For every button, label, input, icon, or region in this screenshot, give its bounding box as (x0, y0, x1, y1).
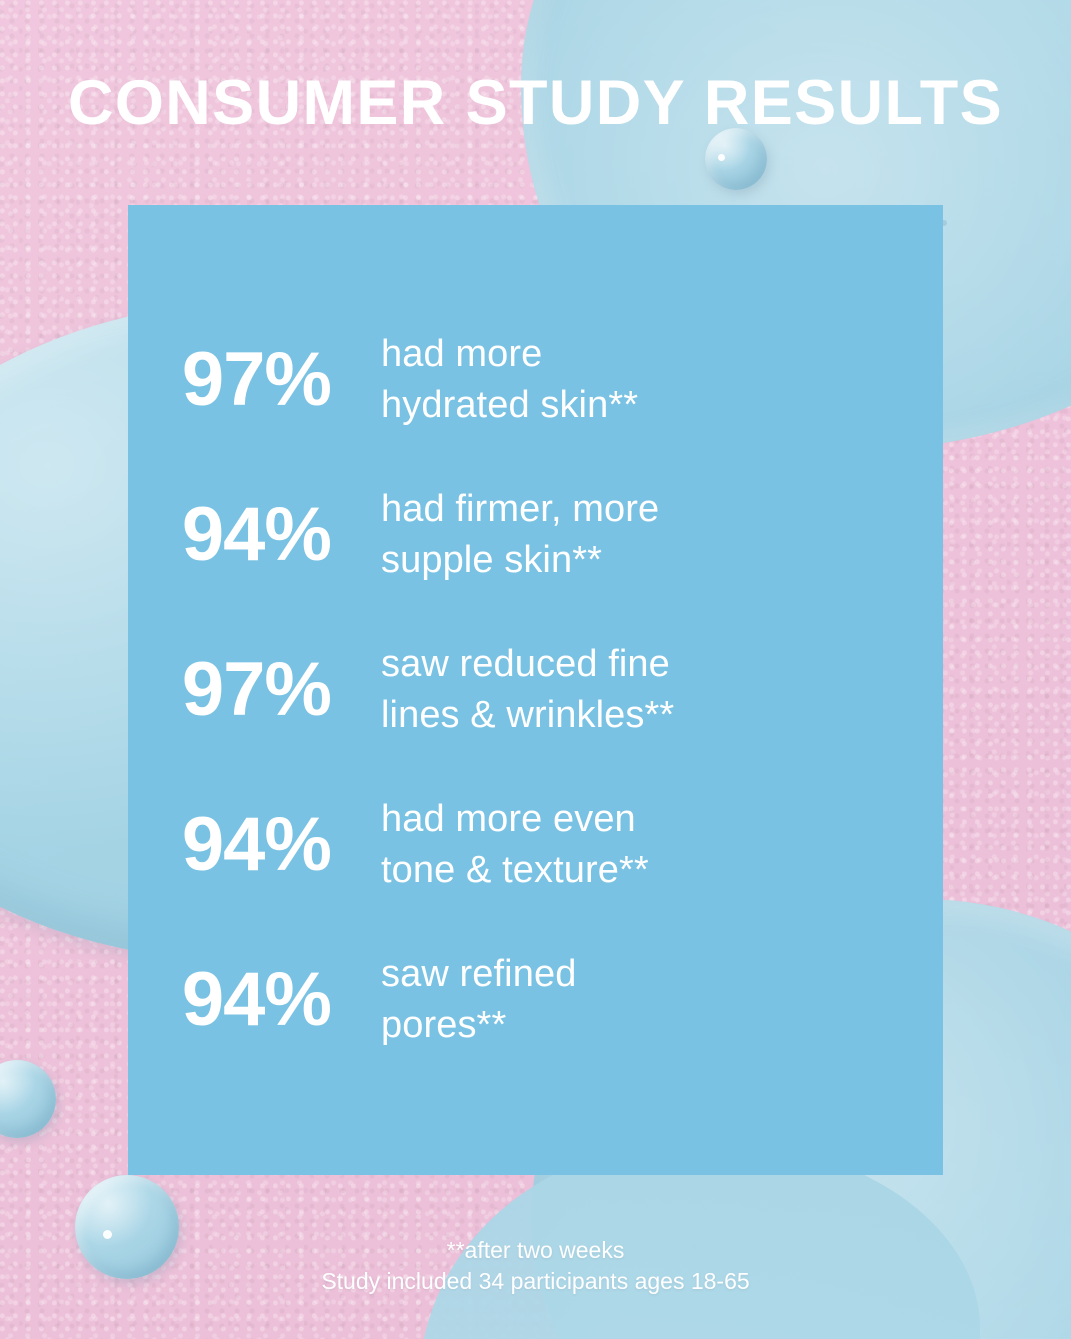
stat-percent: 94% (128, 497, 381, 573)
stat-label: had more even tone & texture** (381, 794, 649, 897)
stat-label: had firmer, more supple skin** (381, 484, 659, 587)
stat-row: 97% had more hydrated skin** (128, 303, 943, 458)
stat-row: 94% had more even tone & texture** (128, 768, 943, 923)
stat-label: had more hydrated skin** (381, 329, 638, 432)
footnote-text: **after two weeks Study included 34 part… (0, 1235, 1071, 1296)
stat-percent: 94% (128, 962, 381, 1038)
page-title: CONSUMER STUDY RESULTS (0, 72, 1071, 135)
stat-percent: 97% (128, 342, 381, 418)
poster-content: CONSUMER STUDY RESULTS 97% had more hydr… (0, 0, 1071, 1339)
stat-row: 94% saw refined pores** (128, 923, 943, 1078)
stats-list: 97% had more hydrated skin** 94% had fir… (128, 205, 943, 1175)
stat-row: 97% saw reduced fine lines & wrinkles** (128, 613, 943, 768)
stat-percent: 94% (128, 807, 381, 883)
stat-label: saw refined pores** (381, 949, 576, 1052)
stat-label: saw reduced fine lines & wrinkles** (381, 639, 674, 742)
stat-percent: 97% (128, 652, 381, 728)
stat-row: 94% had firmer, more supple skin** (128, 458, 943, 613)
